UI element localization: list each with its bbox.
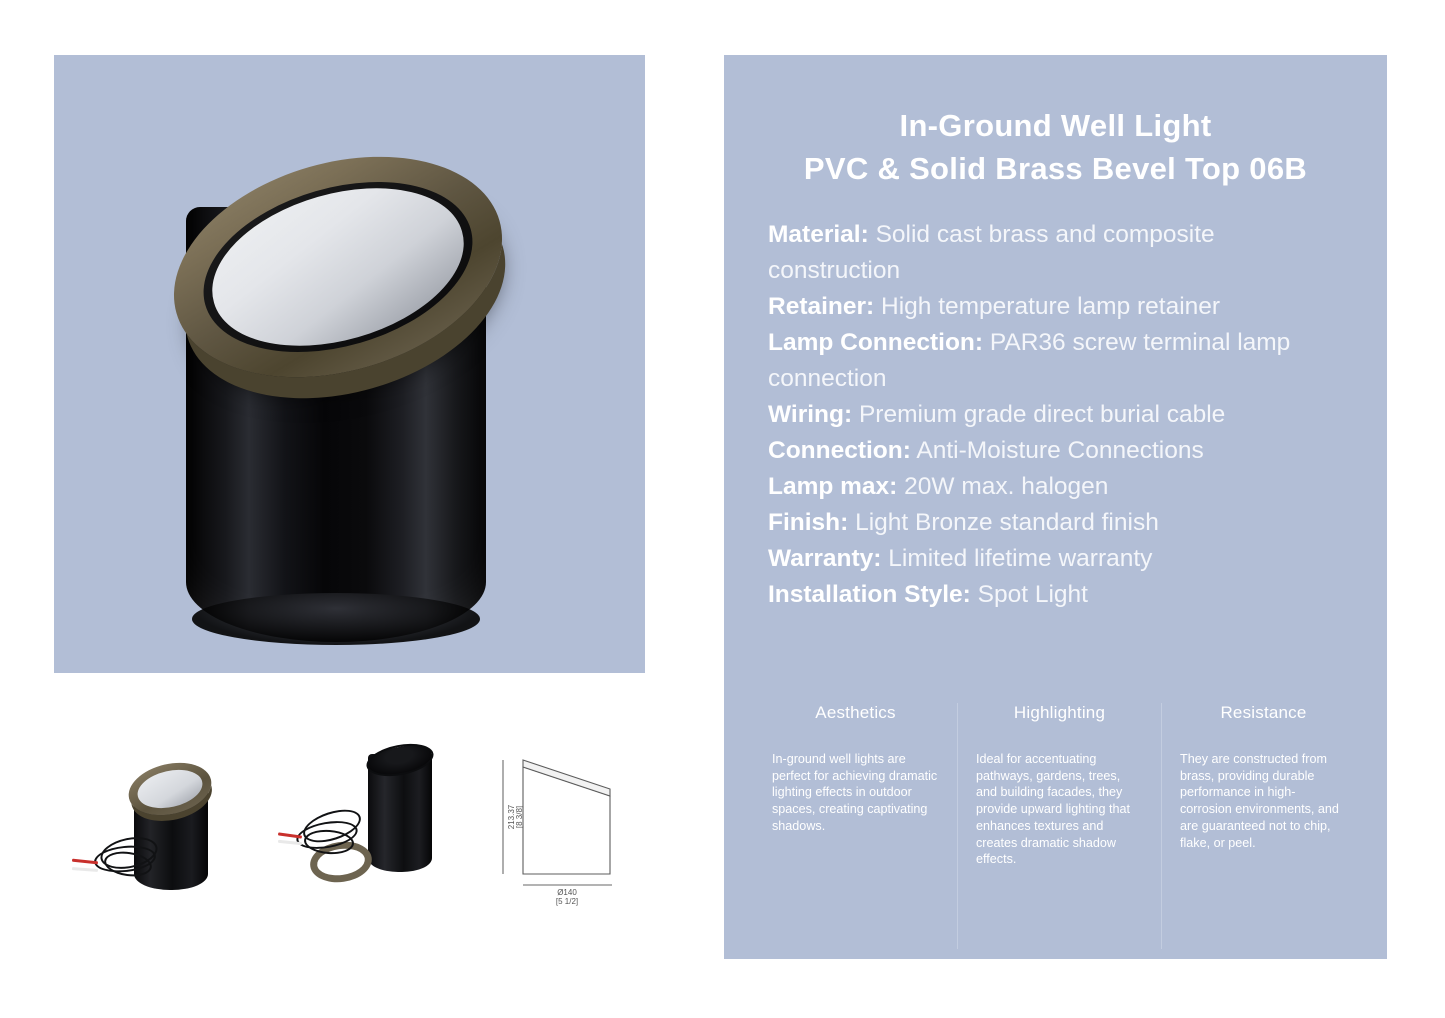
- height-dimension-inches: [8 3/8]: [515, 806, 524, 828]
- thumbnail-exploded[interactable]: [268, 742, 480, 910]
- spec-key: Finish:: [768, 509, 848, 536]
- spec-key: Lamp Connection:: [768, 329, 983, 356]
- product-title-line-2: PVC & Solid Brass Bevel Top 06B: [804, 151, 1307, 186]
- spec-row: Wiring: Premium grade direct burial cabl…: [768, 397, 1353, 433]
- fixture-outline: [523, 767, 610, 874]
- spec-row: Warranty: Limited lifetime warranty: [768, 541, 1353, 577]
- spec-row: Finish: Light Bronze standard finish: [768, 505, 1353, 541]
- feature-title: Aesthetics: [772, 703, 939, 723]
- feature-column-highlighting: Highlighting Ideal for accentuating path…: [957, 703, 1161, 949]
- feature-text: They are constructed from brass, providi…: [1180, 751, 1347, 851]
- hero-product-image: [54, 55, 645, 673]
- spec-row: Lamp Connection: PAR36 screw terminal la…: [768, 325, 1353, 397]
- feature-text: In-ground well lights are perfect for ac…: [772, 751, 939, 835]
- feature-columns: Aesthetics In-ground well lights are per…: [754, 703, 1365, 949]
- thumbnail-assembled[interactable]: [60, 742, 260, 910]
- spec-value: Limited lifetime warranty: [888, 545, 1152, 572]
- spec-key: Connection:: [768, 437, 911, 464]
- feature-column-resistance: Resistance They are constructed from bra…: [1161, 703, 1365, 949]
- diameter-dimension-inches: [5 1/2]: [556, 897, 578, 906]
- spec-key: Lamp max:: [768, 473, 897, 500]
- diameter-dimension-label: Ø140: [557, 888, 577, 897]
- spec-key: Retainer:: [768, 293, 874, 320]
- specification-list: Material: Solid cast brass and composite…: [724, 191, 1387, 613]
- spec-row: Retainer: High temperature lamp retainer: [768, 289, 1353, 325]
- feature-title: Resistance: [1180, 703, 1347, 723]
- feature-column-aesthetics: Aesthetics In-ground well lights are per…: [754, 703, 957, 949]
- spec-row: Material: Solid cast brass and composite…: [768, 217, 1353, 289]
- spec-value: Anti-Moisture Connections: [916, 437, 1203, 464]
- spec-row: Connection: Anti-Moisture Connections: [768, 433, 1353, 469]
- feature-text: Ideal for accentuating pathways, gardens…: [976, 751, 1143, 868]
- thumb1-white-lead: [72, 867, 98, 872]
- page-title: In-Ground Well Light PVC & Solid Brass B…: [724, 55, 1387, 191]
- specification-panel: In-Ground Well Light PVC & Solid Brass B…: [724, 55, 1387, 959]
- spec-key: Installation Style:: [768, 581, 971, 608]
- thumb2-sleeve-opening: [364, 739, 436, 781]
- thumb2-black-sleeve: [368, 754, 432, 872]
- spec-key: Material:: [768, 221, 869, 248]
- dimension-drawing-svg: 213.37 [8 3/8] Ø140 [5 1/2]: [492, 752, 620, 910]
- product-title-line-1: In-Ground Well Light: [900, 108, 1212, 143]
- thumbnail-technical-drawing[interactable]: 213.37 [8 3/8] Ø140 [5 1/2]: [492, 752, 620, 910]
- spec-value: Spot Light: [978, 581, 1088, 608]
- spec-row: Lamp max: 20W max. halogen: [768, 469, 1353, 505]
- spec-key: Wiring:: [768, 401, 852, 428]
- spec-value: High temperature lamp retainer: [881, 293, 1220, 320]
- spec-value: Light Bronze standard finish: [855, 509, 1159, 536]
- spec-value: Premium grade direct burial cable: [859, 401, 1225, 428]
- spec-key: Warranty:: [768, 545, 881, 572]
- feature-title: Highlighting: [976, 703, 1143, 723]
- spec-value: 20W max. halogen: [904, 473, 1108, 500]
- spec-row: Installation Style: Spot Light: [768, 577, 1353, 613]
